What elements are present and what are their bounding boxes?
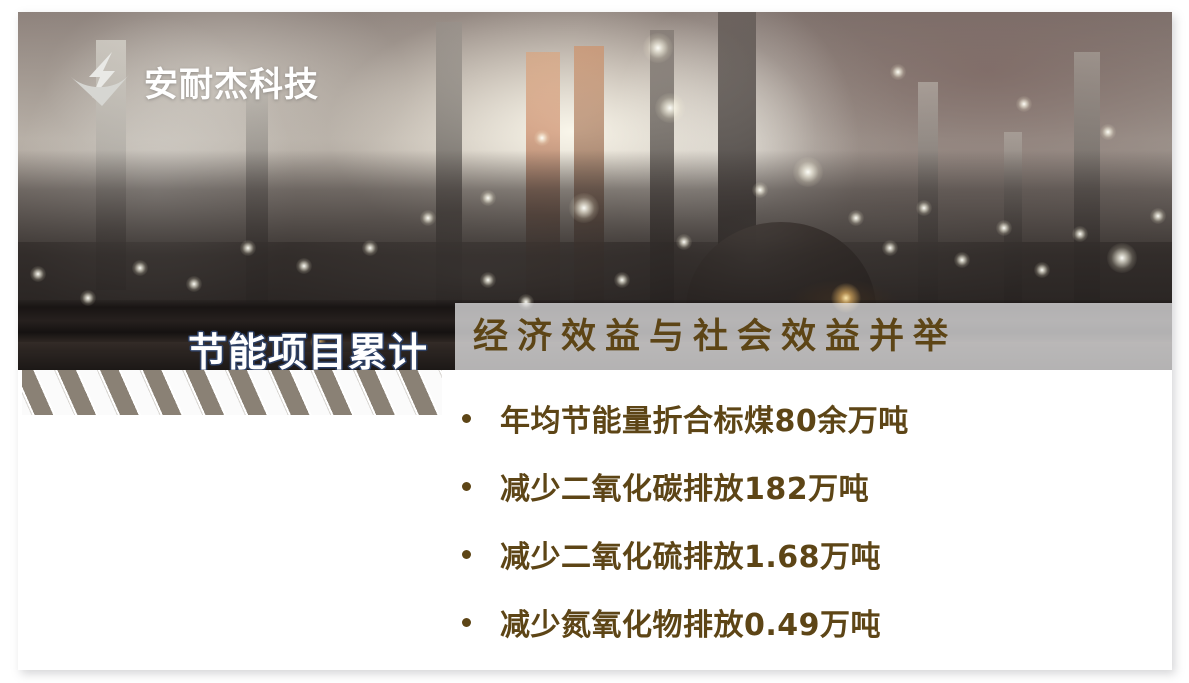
brand-logo: 安耐杰科技: [68, 50, 319, 112]
list-item-label: 减少二氧化碳排放182万吨: [500, 464, 869, 508]
list-item: 减少氮氧化物排放0.49万吨: [448, 588, 1148, 656]
bullet-dot-icon: [462, 550, 471, 559]
diagonal-stripe-decoration: [22, 370, 442, 415]
bullet-dot-icon: [462, 482, 471, 491]
stripe-pattern: [22, 370, 442, 415]
list-item-label: 减少氮氧化物排放0.49万吨: [500, 600, 881, 644]
list-item: 减少二氧化碳排放182万吨: [448, 452, 1148, 520]
list-item: 减少二氧化硫排放1.68万吨: [448, 520, 1148, 588]
brand-name: 安耐杰科技: [144, 57, 319, 106]
list-item-label: 年均节能量折合标煤80余万吨: [500, 396, 909, 440]
page-title: 经济效益与社会效益并举: [473, 308, 1172, 366]
bullet-dot-icon: [462, 618, 471, 627]
list-item: 年均节能量折合标煤80余万吨: [448, 384, 1148, 452]
bullet-dot-icon: [462, 414, 471, 423]
list-item-label: 减少二氧化硫排放1.68万吨: [500, 532, 881, 576]
bullet-list: 年均节能量折合标煤80余万吨 减少二氧化碳排放182万吨 减少二氧化硫排放1.6…: [448, 384, 1148, 656]
slide-canvas: 安耐杰科技 经济效益与社会效益并举 节能项目累计 年均节能量折合标煤80余万吨 …: [18, 12, 1172, 670]
lightning-bolt-icon: [68, 50, 132, 112]
